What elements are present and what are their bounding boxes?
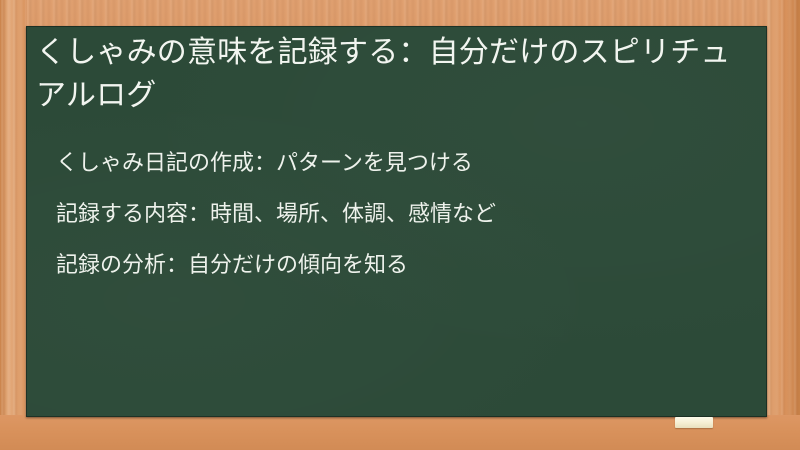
chalkboard-surface: くしゃみの意味を記録する：自分だけのスピリチュアルログ くしゃみ日記の作成：パタ… [26,26,767,417]
wood-frame-top-rail [0,0,800,27]
chalk-stick-icon [675,417,713,428]
list-item: くしゃみ日記の作成：パターンを見つける [56,152,746,174]
blackboard-slide: くしゃみの意味を記録する：自分だけのスピリチュアルログ くしゃみ日記の作成：パタ… [0,0,800,450]
list-item: 記録する内容：時間、場所、体調、感情など [56,203,746,225]
bullet-list: くしゃみ日記の作成：パターンを見つける 記録する内容：時間、場所、体調、感情など… [56,152,746,305]
page-title: くしゃみの意味を記録する：自分だけのスピリチュアルログ [36,32,736,117]
wood-frame-left-rail [0,0,27,450]
list-item: 記録の分析：自分だけの傾向を知る [56,254,746,276]
wood-frame-right-rail [767,0,800,450]
